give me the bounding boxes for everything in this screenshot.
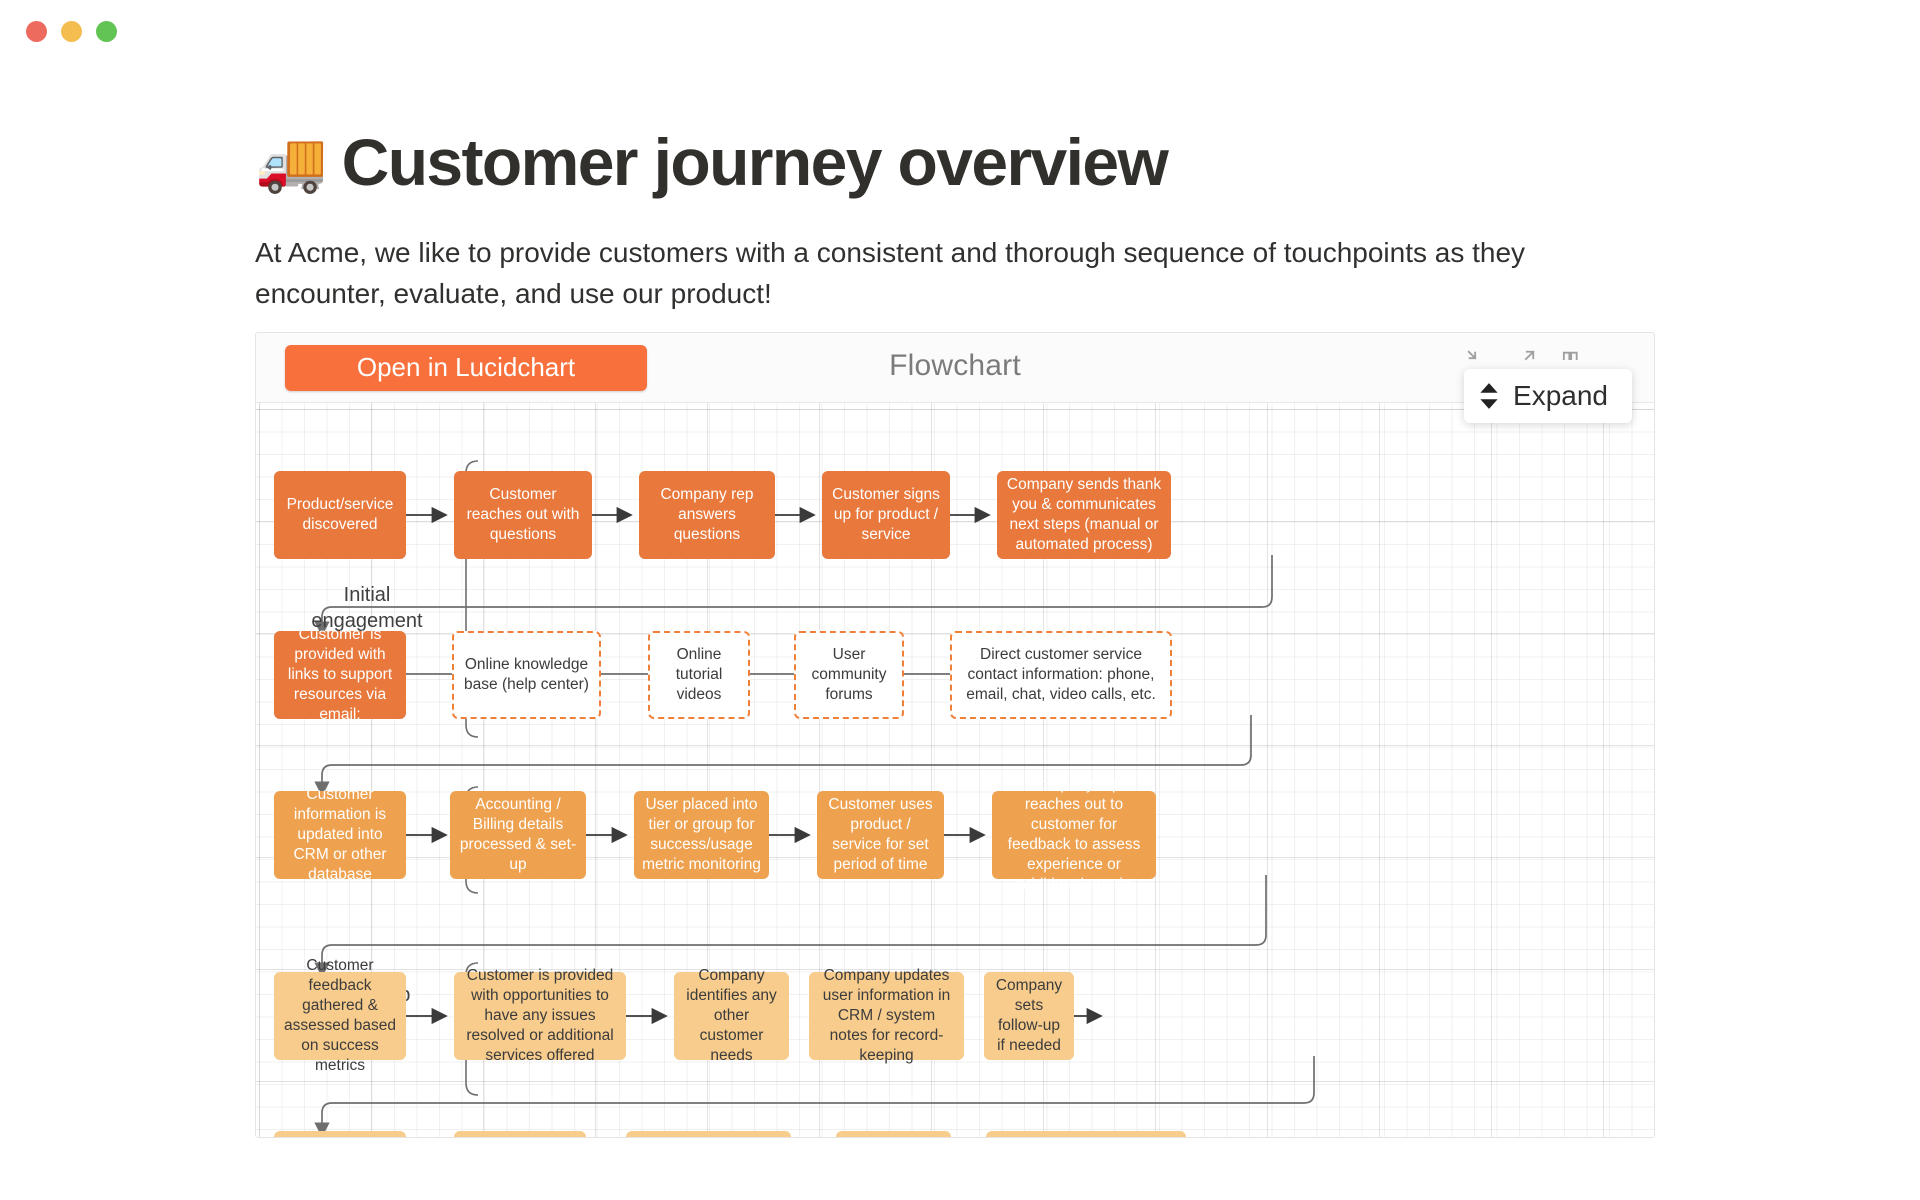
node-r3c2[interactable]: Accounting / Billing details processed &… — [450, 791, 586, 879]
page-title: 🚚 Customer journey overview — [255, 128, 1920, 198]
shapes-icon[interactable] — [1562, 349, 1584, 371]
node-r1c3[interactable]: Company rep answers questions — [639, 471, 775, 559]
collapse-arrows-icon[interactable] — [1466, 349, 1488, 371]
node-r1c2[interactable]: Customer reaches out with questions — [454, 471, 592, 559]
node-r4c2[interactable]: Customer is provided with opportunities … — [454, 972, 626, 1060]
node-r1c1[interactable]: Product/service discovered — [274, 471, 406, 559]
node-r4c5[interactable]: Company sets follow-up if needed — [984, 972, 1074, 1060]
node-r5c1[interactable] — [274, 1131, 406, 1138]
expand-chevrons-icon — [1478, 382, 1500, 410]
diagram-canvas[interactable]: Initial engagement Set-up Follow-up Prod… — [256, 403, 1654, 1138]
expand-tooltip[interactable]: Expand — [1464, 369, 1632, 423]
node-r2c5[interactable]: Direct customer service contact informat… — [950, 631, 1172, 719]
node-r1c5[interactable]: Company sends thank you & communicates n… — [997, 471, 1171, 559]
lucidchart-embed-card: Open in Lucidchart Flowchart — [255, 332, 1655, 1138]
node-r2c2[interactable]: Online knowledge base (help center) — [452, 631, 601, 719]
diagram-name-label: Flowchart — [256, 349, 1654, 383]
node-r3c4[interactable]: Customer uses product / service for set … — [817, 791, 944, 879]
page-intro-paragraph: At Acme, we like to provide customers wi… — [255, 232, 1645, 315]
window-titlebar — [0, 0, 1920, 62]
node-r3c5[interactable]: Company rep reaches out to customer for … — [992, 791, 1156, 879]
node-r2c3[interactable]: Online tutorial videos — [648, 631, 750, 719]
app-window: 🚚 Customer journey overview At Acme, we … — [0, 0, 1920, 1200]
node-r5c4[interactable] — [836, 1131, 951, 1138]
node-r3c1[interactable]: Customer information is updated into CRM… — [274, 791, 406, 879]
minimize-window-button[interactable] — [61, 21, 82, 42]
node-r5c3[interactable] — [626, 1131, 791, 1138]
embed-toolbar: Open in Lucidchart Flowchart — [256, 333, 1654, 403]
node-r4c4[interactable]: Company updates user information in CRM … — [809, 972, 964, 1060]
close-window-button[interactable] — [26, 21, 47, 42]
truck-icon: 🚚 — [255, 134, 326, 192]
node-r2c1[interactable]: Customer is provided with links to suppo… — [274, 631, 406, 719]
node-r1c4[interactable]: Customer signs up for product / service — [822, 471, 950, 559]
node-r5c2[interactable] — [454, 1131, 586, 1138]
node-r5c5[interactable] — [986, 1131, 1186, 1138]
maximize-window-button[interactable] — [96, 21, 117, 42]
page-title-text: Customer journey overview — [342, 128, 1168, 198]
embed-toolbar-icons — [1466, 349, 1584, 371]
document-body: 🚚 Customer journey overview At Acme, we … — [0, 62, 1920, 315]
expand-tooltip-label: Expand — [1513, 380, 1608, 412]
node-r2c4[interactable]: User community forums — [794, 631, 904, 719]
node-r3c3[interactable]: User placed into tier or group for succe… — [634, 791, 769, 879]
node-r4c3[interactable]: Company identifies any other customer ne… — [674, 972, 789, 1060]
expand-arrows-icon[interactable] — [1514, 349, 1536, 371]
lane-label-line-1: Initial — [292, 583, 442, 609]
node-r4c1[interactable]: Customer feedback gathered & assessed ba… — [274, 972, 406, 1060]
